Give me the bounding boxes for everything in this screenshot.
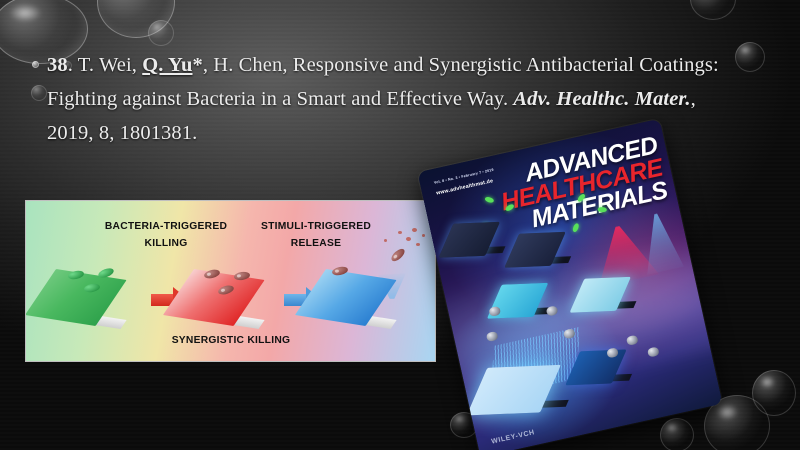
citation-journal: Adv. Healthc. Mater. (513, 88, 690, 110)
scheme-label-bacteria-triggered: BACTERIA-TRIGGERED (86, 221, 246, 232)
debris-particle (398, 231, 402, 234)
journal-cover-image: Vol. 8 • No. 3 • February 7 • 2019 www.a… (432, 136, 762, 436)
bacterium-released-icon (389, 247, 406, 264)
journal-cover: Vol. 8 • No. 3 • February 7 • 2019 www.a… (417, 119, 722, 450)
debris-particle (416, 243, 420, 246)
bubble-decoration-icon (735, 42, 765, 72)
cover-publisher-logo: WILEY-VCH (491, 429, 536, 445)
scheme-label-killing: KILLING (86, 238, 246, 249)
cover-bacterium-icon (598, 207, 607, 212)
citation-corresponding-author: Q. Yu (142, 54, 192, 76)
debris-particle (406, 237, 411, 241)
citation-authors-rest: , H. Chen, (203, 54, 293, 76)
debris-particle (412, 228, 417, 232)
scheme-surface-blue (326, 269, 421, 329)
scheme-surface-red (194, 269, 289, 329)
citation-number-suffix: . (68, 54, 78, 76)
scheme-label-release: RELEASE (241, 238, 391, 249)
bubble-decoration-icon (97, 0, 175, 38)
bubble-decoration-icon (31, 85, 47, 101)
scheme-label-synergistic-killing: SYNERGISTIC KILLING (131, 335, 331, 346)
scheme-label-stimuli-triggered: STIMULI-TRIGGERED (241, 221, 391, 232)
citation-number: 38 (47, 54, 68, 76)
scheme-graphic: BACTERIA-TRIGGERED KILLING STIMULI-TRIGG… (25, 200, 436, 362)
scheme-surface-green (56, 269, 151, 329)
slide-canvas: 38. T. Wei, Q. Yu*, H. Chen, Responsive … (0, 0, 800, 450)
bubble-decoration-icon (148, 20, 174, 46)
debris-particle (384, 239, 387, 242)
citation-author-first: T. Wei, (78, 54, 142, 76)
bubble-decoration-icon (690, 0, 736, 20)
debris-particle (422, 234, 425, 237)
citation-corresponding-mark: * (193, 54, 203, 76)
bullet-marker-icon (32, 61, 39, 68)
